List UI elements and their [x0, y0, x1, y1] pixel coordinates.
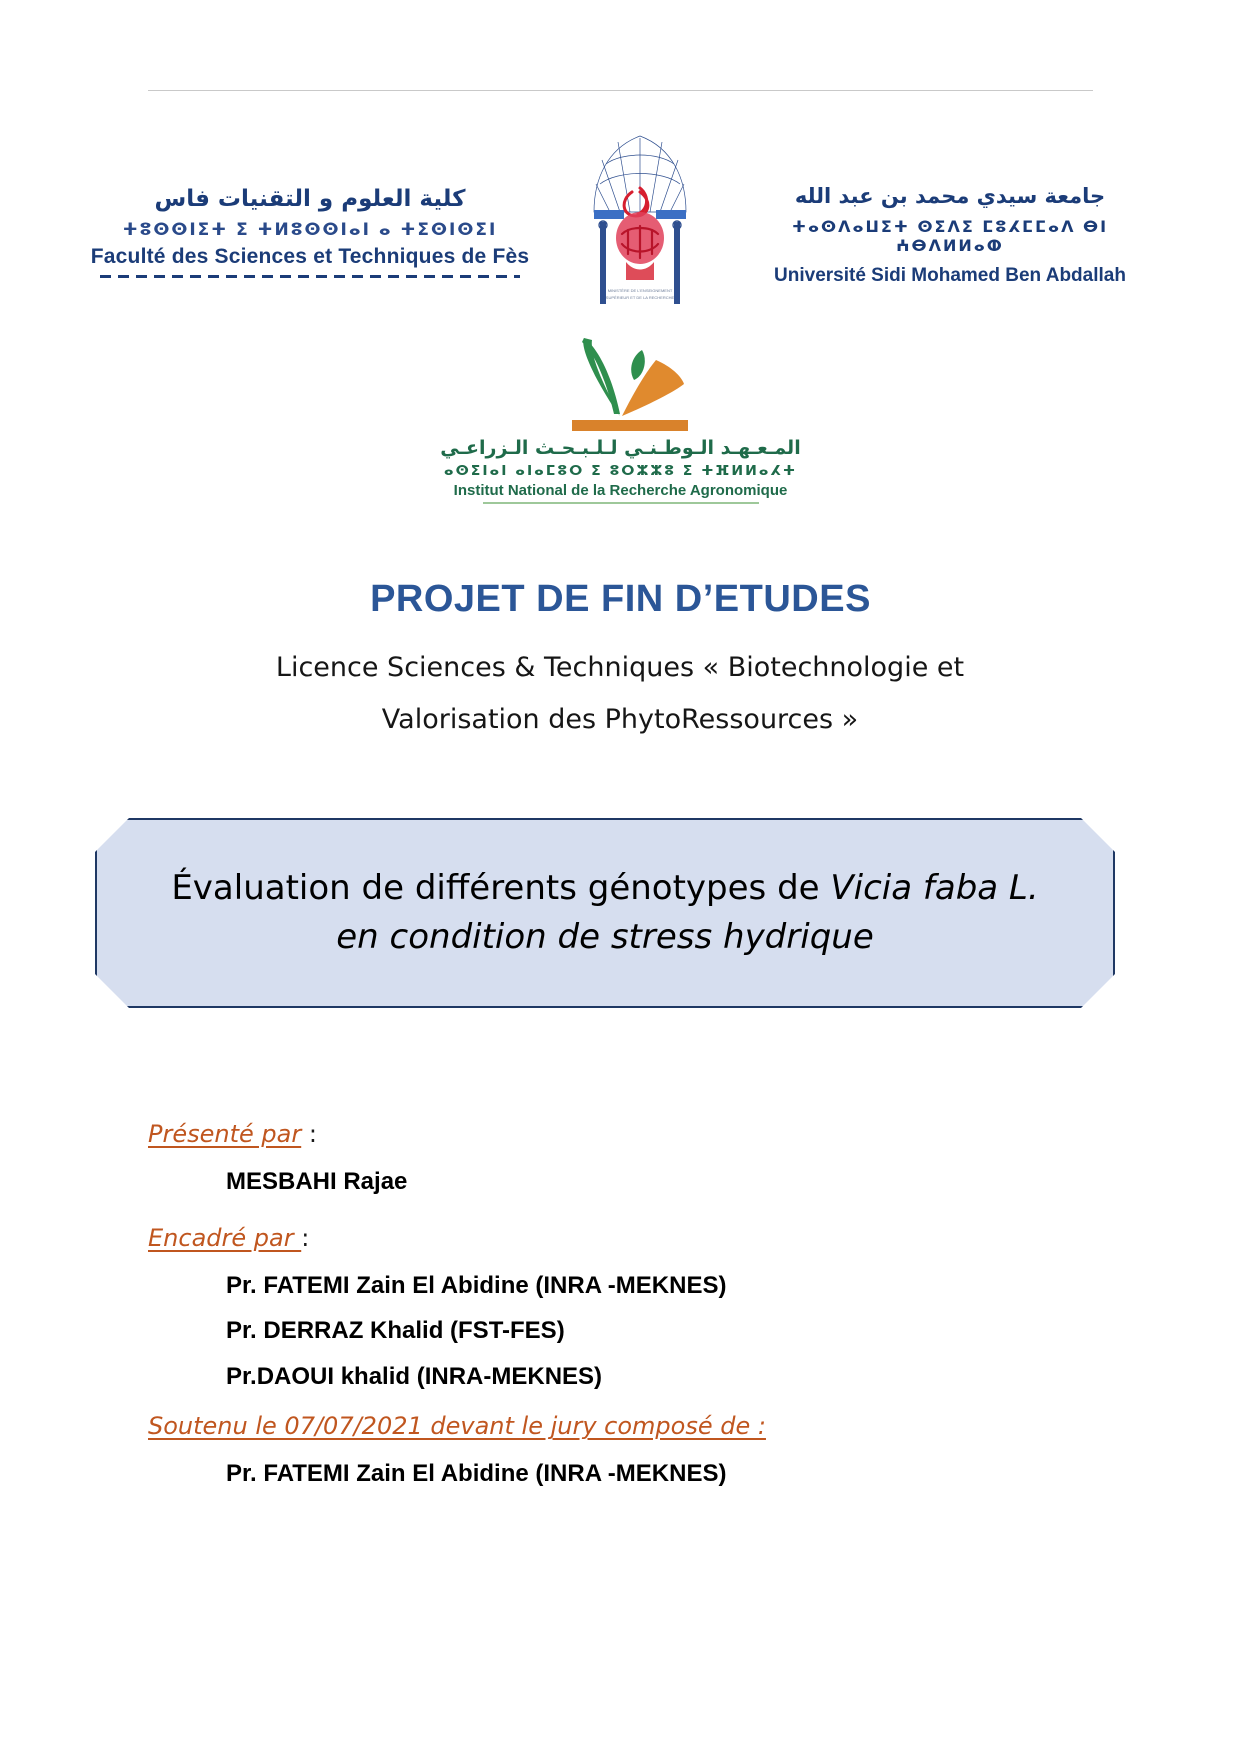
inra-name-arabic: المـعـهـد الـوطـنـي لـلـبـحـث الـزراعـي [0, 437, 1241, 459]
supervised-by-colon: : [301, 1224, 309, 1252]
supervisor-name: Pr. FATEMI Zain El Abidine (INRA -MEKNES… [226, 1266, 1048, 1306]
supervised-by-label: Encadré par : [148, 1224, 1048, 1252]
supervisor-name: Pr.DAOUI khalid (INRA-MEKNES) [226, 1357, 1048, 1397]
svg-text:SUPÉRIEUR ET DE LA RECHERCHE: SUPÉRIEUR ET DE LA RECHERCHE [606, 295, 675, 300]
presented-by-label-text: Présenté par [148, 1120, 301, 1148]
degree-line-2: Valorisation des PhytoRessources » [170, 700, 1070, 739]
page-title: PROJET DE FIN D’ETUDES [0, 578, 1241, 621]
author-name: MESBAHI Rajae [226, 1162, 1048, 1202]
svg-text:MINISTÈRE DE L'ENSEIGNEMENT: MINISTÈRE DE L'ENSEIGNEMENT [608, 288, 673, 293]
institution-header: كلية العلوم و التقنيات فاس ⵜⵓⵙⵙⵏⵉⵜ ⵉ ⵜⵍⵓ… [90, 128, 1150, 323]
jury-member-name: Pr. FATEMI Zain El Abidine (INRA -MEKNES… [226, 1454, 1048, 1494]
inra-sprout-logo-icon [506, 330, 736, 435]
presented-by-colon: : [301, 1120, 317, 1148]
thesis-cover-page: كلية العلوم و التقنيات فاس ⵜⵓⵙⵙⵏⵉⵜ ⵉ ⵜⵍⵓ… [0, 0, 1241, 1754]
defense-label: Soutenu le 07/07/2021 devant le jury com… [148, 1412, 1048, 1440]
project-title-italic-1: Vicia [830, 868, 912, 908]
university-name-french: Université Sidi Mohamed Ben Abdallah [750, 265, 1150, 287]
defense-label-text: Soutenu le 07/07/2021 devant le jury com… [148, 1412, 766, 1440]
credits-section: Présenté par : MESBAHI Rajae Encadré par… [148, 1120, 1048, 1500]
faculty-name-french: Faculté des Sciences et Techniques de Fè… [90, 245, 530, 269]
faculty-logo-block: كلية العلوم و التقنيات فاس ⵜⵓⵙⵙⵏⵉⵜ ⵉ ⵜⵍⵓ… [90, 128, 530, 278]
degree-line-1: Licence Sciences & Techniques « Biotechn… [170, 648, 1070, 687]
header-rule [148, 90, 1093, 91]
project-title-banner: Évaluation de différents génotypes de Vi… [95, 818, 1115, 1008]
project-title-text: Évaluation de différents génotypes de Vi… [155, 864, 1055, 963]
project-title-roman: Évaluation de différents génotypes de [171, 868, 830, 908]
university-crest-icon: MINISTÈRE DE L'ENSEIGNEMENT SUPÉRIEUR ET… [588, 130, 692, 310]
university-name-tifinagh: ⵜⴰⵙⴷⴰⵡⵉⵜ ⵙⵉⴷⵉ ⵎⵓⵃⵎⵎⴰⴷ ⴱⵏ ⵄⴱⴷⵍⵍⴰⵀ [750, 217, 1150, 255]
university-logo-block: جامعة سيدي محمد بن عبد الله ⵜⴰⵙⴷⴰⵡⵉⵜ ⵙⵉⴷ… [750, 128, 1150, 287]
supervised-by-label-text: Encadré par [148, 1224, 301, 1252]
presented-by-label: Présenté par : [148, 1120, 1048, 1148]
inra-underline [483, 502, 759, 504]
inra-name-tifinagh: ⴰⵙⵉⵏⴰⵏ ⴰⵏⴰⵎⵓⵔ ⵉ ⵓⵔⵣⵣⵓ ⵉ ⵜⴼⵍⵍⴰⵃⵜ [0, 463, 1241, 479]
faculty-dashed-underline [100, 275, 520, 278]
inra-logo-block: المـعـهـد الـوطـنـي لـلـبـحـث الـزراعـي … [0, 330, 1241, 504]
inra-name-french: Institut National de la Recherche Agrono… [0, 482, 1241, 499]
faculty-name-tifinagh: ⵜⵓⵙⵙⵏⵉⵜ ⵉ ⵜⵍⵓⵙⵙⵏⴰⵏ ⴰ ⵜⵉⵙⵏⵙⵉⵏ [90, 220, 530, 240]
supervisor-name: Pr. DERRAZ Khalid (FST-FES) [226, 1311, 1048, 1351]
faculty-name-arabic: كلية العلوم و التقنيات فاس [90, 186, 530, 214]
university-name-arabic: جامعة سيدي محمد بن عبد الله [750, 183, 1150, 209]
